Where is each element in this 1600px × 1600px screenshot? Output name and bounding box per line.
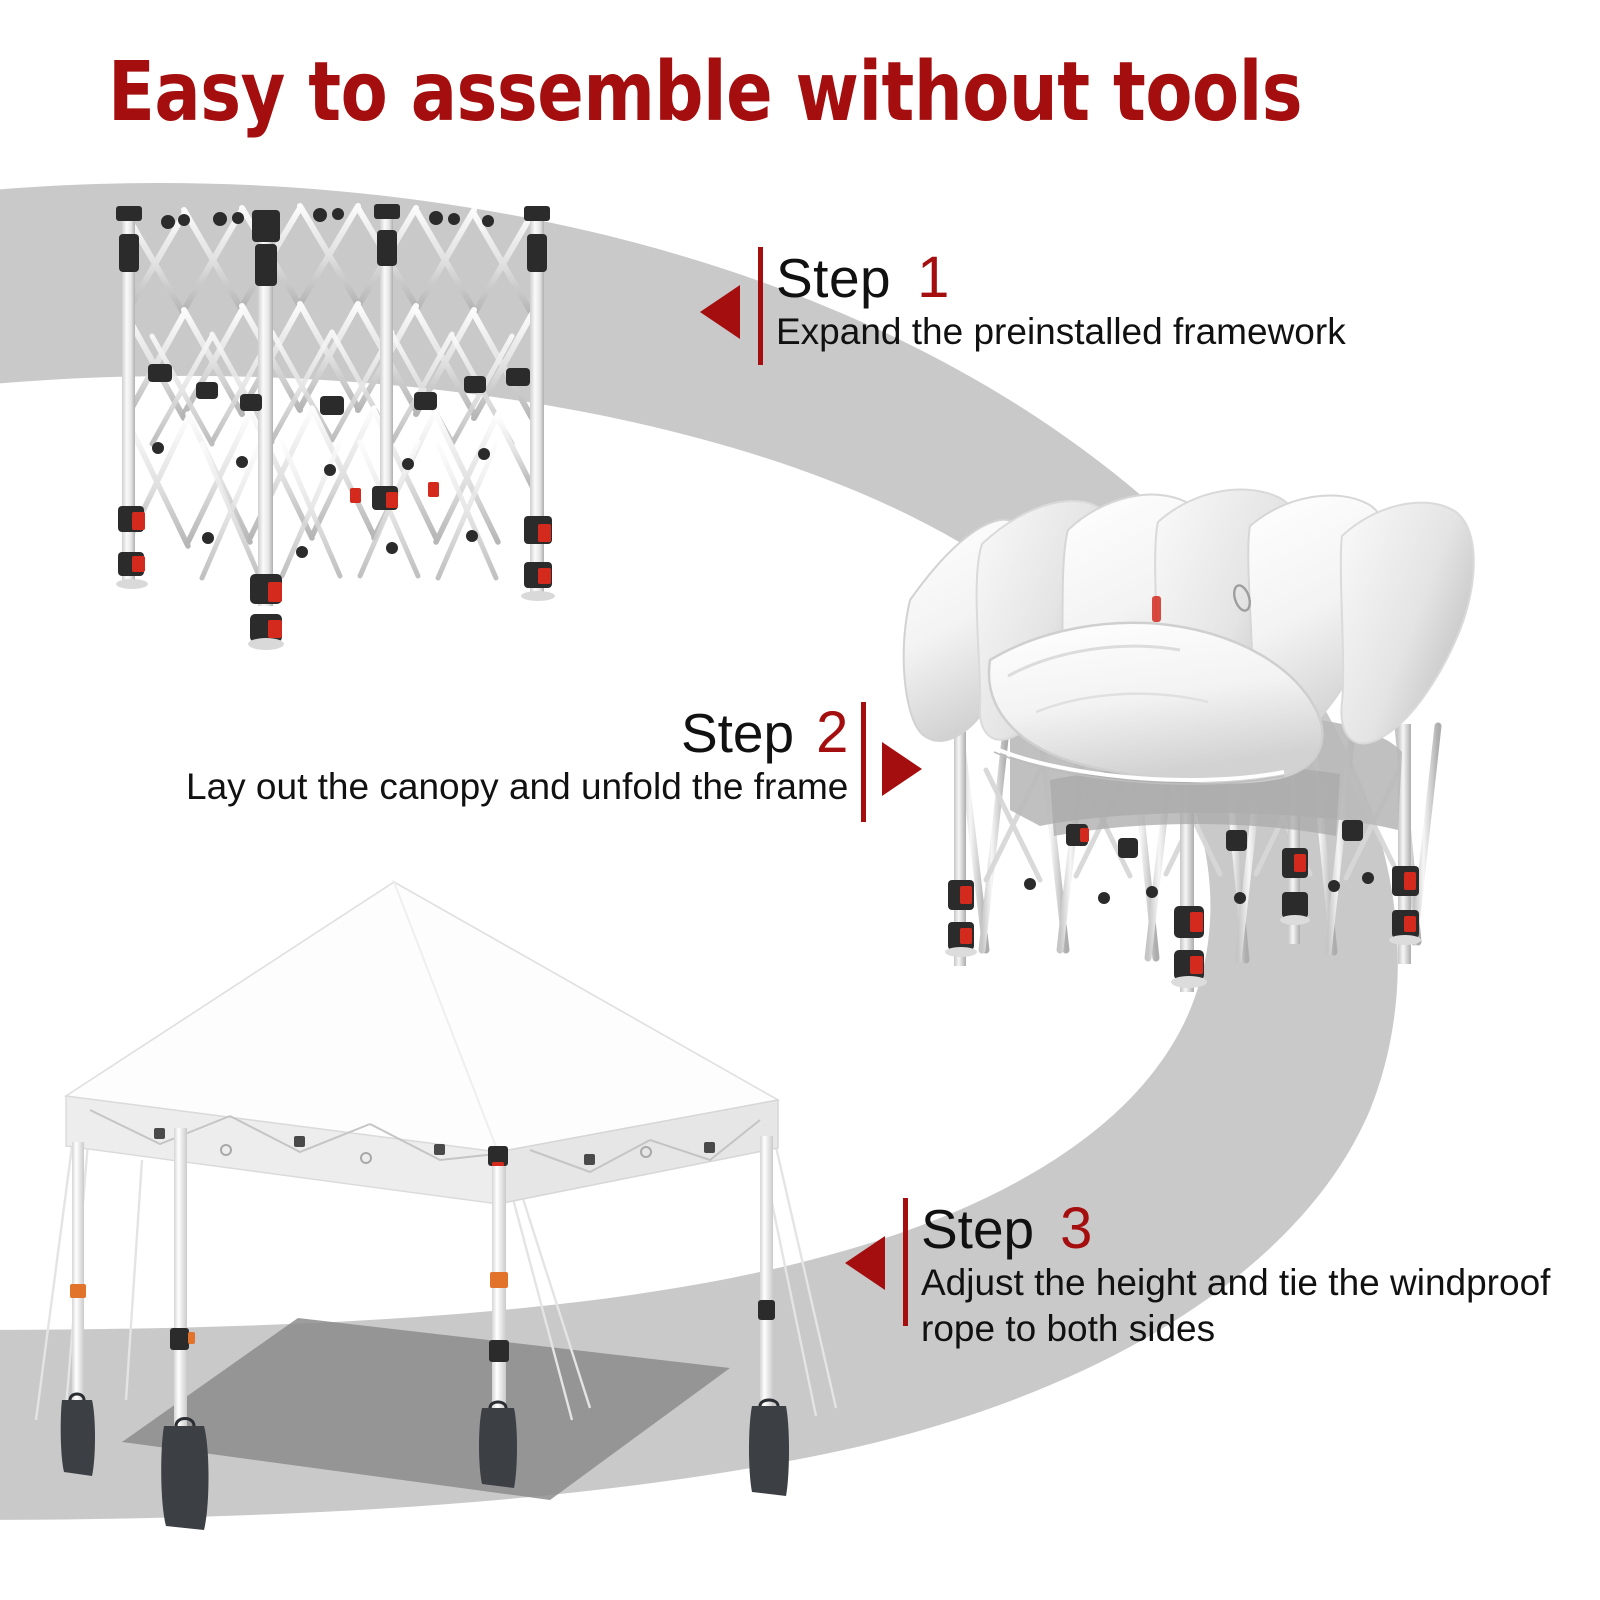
step-3-description-line-1: Adjust the height and tie the windproof	[921, 1260, 1550, 1306]
step-divider-bar	[861, 702, 866, 822]
step-divider-bar	[903, 1198, 908, 1326]
triangle-left-icon	[845, 1236, 885, 1290]
step-3-label: Step	[921, 1198, 1034, 1260]
assembled-canopy-photo	[30, 860, 860, 1540]
step-2-label: Step	[681, 702, 794, 764]
step-2-description: Lay out the canopy and unfold the frame	[186, 764, 848, 809]
step-2-number: 2	[816, 700, 848, 765]
step-2-headline: Step2	[681, 702, 848, 764]
page-title: Easy to assemble without tools	[108, 52, 1302, 134]
step-3-number: 3	[1060, 1196, 1092, 1261]
step-1-headline: Step1	[776, 247, 1346, 309]
infographic-canvas: Easy to assemble without tools	[0, 0, 1600, 1600]
step-2-block: Step2 Lay out the canopy and unfold the …	[186, 702, 922, 822]
step-1-description: Expand the preinstalled framework	[776, 309, 1346, 354]
step-3-description-line-2: rope to both sides	[921, 1306, 1550, 1352]
canopy-draped-frame-photo	[890, 480, 1490, 1060]
step-3-block: Step3 Adjust the height and tie the wind…	[845, 1198, 1550, 1352]
step-1-number: 1	[917, 245, 950, 310]
step-1-block: Step1 Expand the preinstalled framework	[700, 247, 1346, 365]
expanded-frame-photo	[92, 186, 612, 676]
step-3-headline: Step3	[921, 1198, 1550, 1260]
triangle-right-icon	[882, 742, 922, 796]
step-1-label: Step	[776, 247, 891, 309]
step-divider-bar	[758, 247, 763, 365]
triangle-left-icon	[700, 285, 740, 339]
